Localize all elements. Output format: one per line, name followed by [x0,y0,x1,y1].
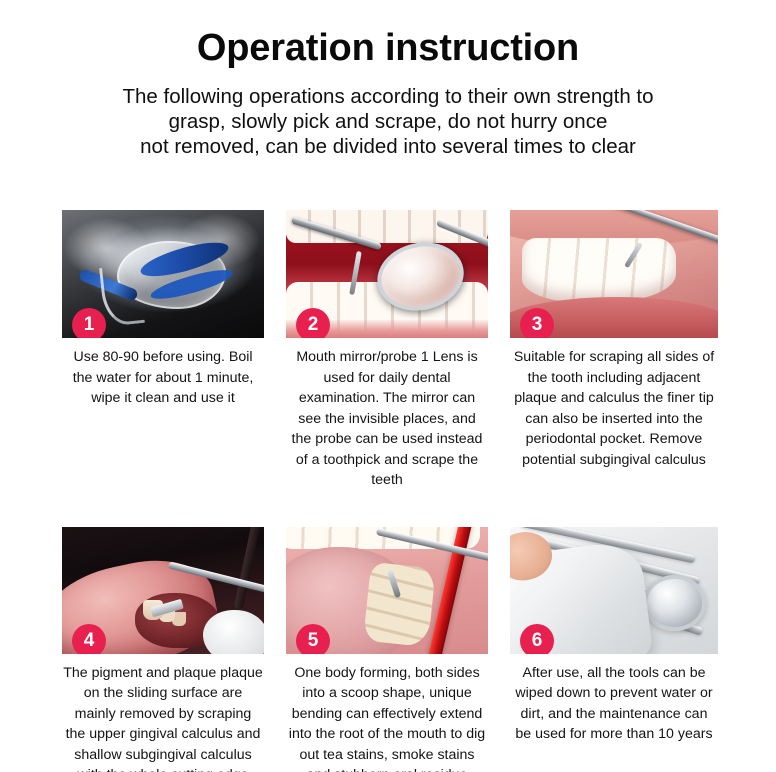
dental-mirror-shape [643,575,705,631]
step-card-3: 3 Suitable for scraping all sides of the… [510,210,718,491]
retractor-shape [233,527,261,611]
step-card-1: 1 Use 80-90 before using. Boil the water… [62,210,264,491]
step-badge-2: 2 [296,308,330,338]
gauze-shape [203,610,264,653]
step-caption-5: One body forming, both sides into a scoo… [286,663,488,772]
subtitle-line-2: grasp, slowly pick and scrape, do not hu… [60,109,716,134]
step-4-photo: 4 [62,527,264,654]
step-badge-5: 5 [296,624,330,654]
page-title: Operation instruction [0,26,776,70]
operation-instruction-page: Operation instruction The following oper… [0,0,776,772]
step-card-6: 6 After use, all the tools can be wiped … [510,527,718,772]
step-badge-4: 4 [72,624,106,654]
step-card-2: 2 Mouth mirror/probe 1 Lens is used for … [286,210,488,491]
page-subtitle: The following operations according to th… [0,84,776,159]
lower-teeth-shape [363,561,436,646]
smile-teeth-shape [522,238,676,302]
step-3-photo: 3 [510,210,718,338]
step-6-photo: 6 [510,527,718,654]
grid-row-spacer [62,491,264,527]
step-badge-1: 1 [72,308,106,338]
subtitle-line-1: The following operations according to th… [60,84,716,109]
step-caption-3: Suitable for scraping all sides of the t… [510,347,718,470]
steps-grid: 1 Use 80-90 before using. Boil the water… [62,210,718,772]
step-2-photo: 2 [286,210,488,338]
mouthguard-clip-shape [99,264,145,327]
subtitle-line-3: not removed, can be divided into several… [60,134,716,159]
grid-row-spacer [510,491,718,527]
step-caption-4: The pigment and plaque plaque on the sli… [62,663,264,772]
step-badge-6: 6 [520,624,554,654]
step-card-4: 4 The pigment and plaque plaque on the s… [62,527,264,772]
page-header: Operation instruction The following oper… [0,0,776,159]
step-card-5: 5 One body forming, both sides into a sc… [286,527,488,772]
step-badge-3: 3 [520,308,554,338]
step-caption-6: After use, all the tools can be wiped do… [510,663,718,745]
step-caption-1: Use 80-90 before using. Boil the water f… [62,347,264,409]
grid-row-spacer [286,491,488,527]
step-5-photo: 5 [286,527,488,654]
step-caption-2: Mouth mirror/probe 1 Lens is used for da… [286,347,488,491]
step-1-photo: 1 [62,210,264,338]
